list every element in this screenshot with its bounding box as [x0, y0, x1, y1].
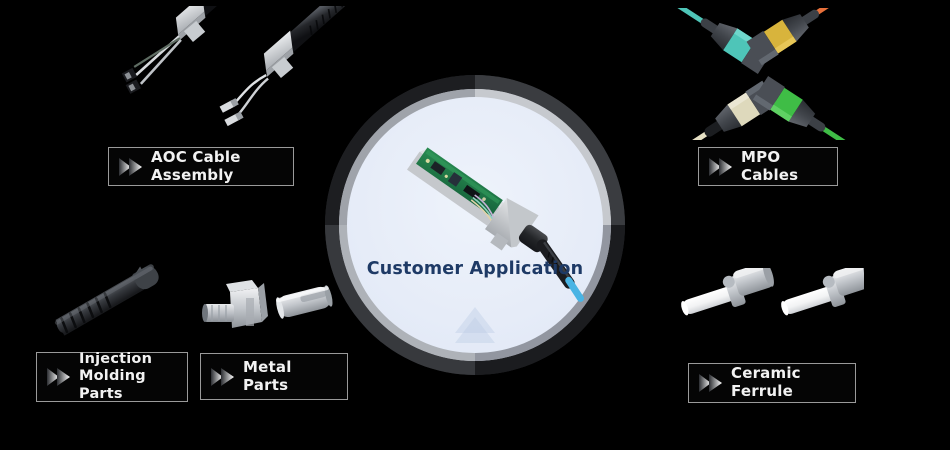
metal-parts-image — [196, 272, 336, 348]
label-aoc-cable-assembly[interactable]: AOC Cable Assembly — [108, 147, 294, 186]
label-text: MPO Cables — [741, 149, 823, 184]
label-text: AOC Cable Assembly — [151, 149, 279, 184]
ceramic-ferrule-image — [664, 268, 864, 358]
label-injection-molding-parts[interactable]: Injection Molding Parts — [36, 352, 188, 402]
customer-application-hub[interactable]: Customer Application — [325, 75, 625, 375]
chevron-right-icon — [118, 157, 144, 177]
label-text: Ceramic Ferrule — [731, 365, 841, 400]
injection-molding-part-image — [38, 256, 188, 348]
aoc-cable-assembly-image — [92, 6, 352, 138]
hub-face: Customer Application — [347, 97, 603, 353]
hub-title: Customer Application — [347, 259, 603, 279]
label-text: Metal Parts — [243, 359, 333, 394]
infographic-canvas: Customer Application — [0, 0, 950, 450]
chevron-right-icon — [46, 367, 72, 387]
chevron-right-icon — [708, 157, 734, 177]
label-text: Injection Molding Parts — [79, 351, 173, 402]
chevron-right-icon — [210, 367, 236, 387]
label-ceramic-ferrule[interactable]: Ceramic Ferrule — [688, 363, 856, 403]
mpo-cables-image — [662, 8, 862, 140]
label-mpo-cables[interactable]: MPO Cables — [698, 147, 838, 186]
label-metal-parts[interactable]: Metal Parts — [200, 353, 348, 400]
double-chevron-up-icon — [453, 303, 497, 343]
chevron-right-icon — [698, 373, 724, 393]
